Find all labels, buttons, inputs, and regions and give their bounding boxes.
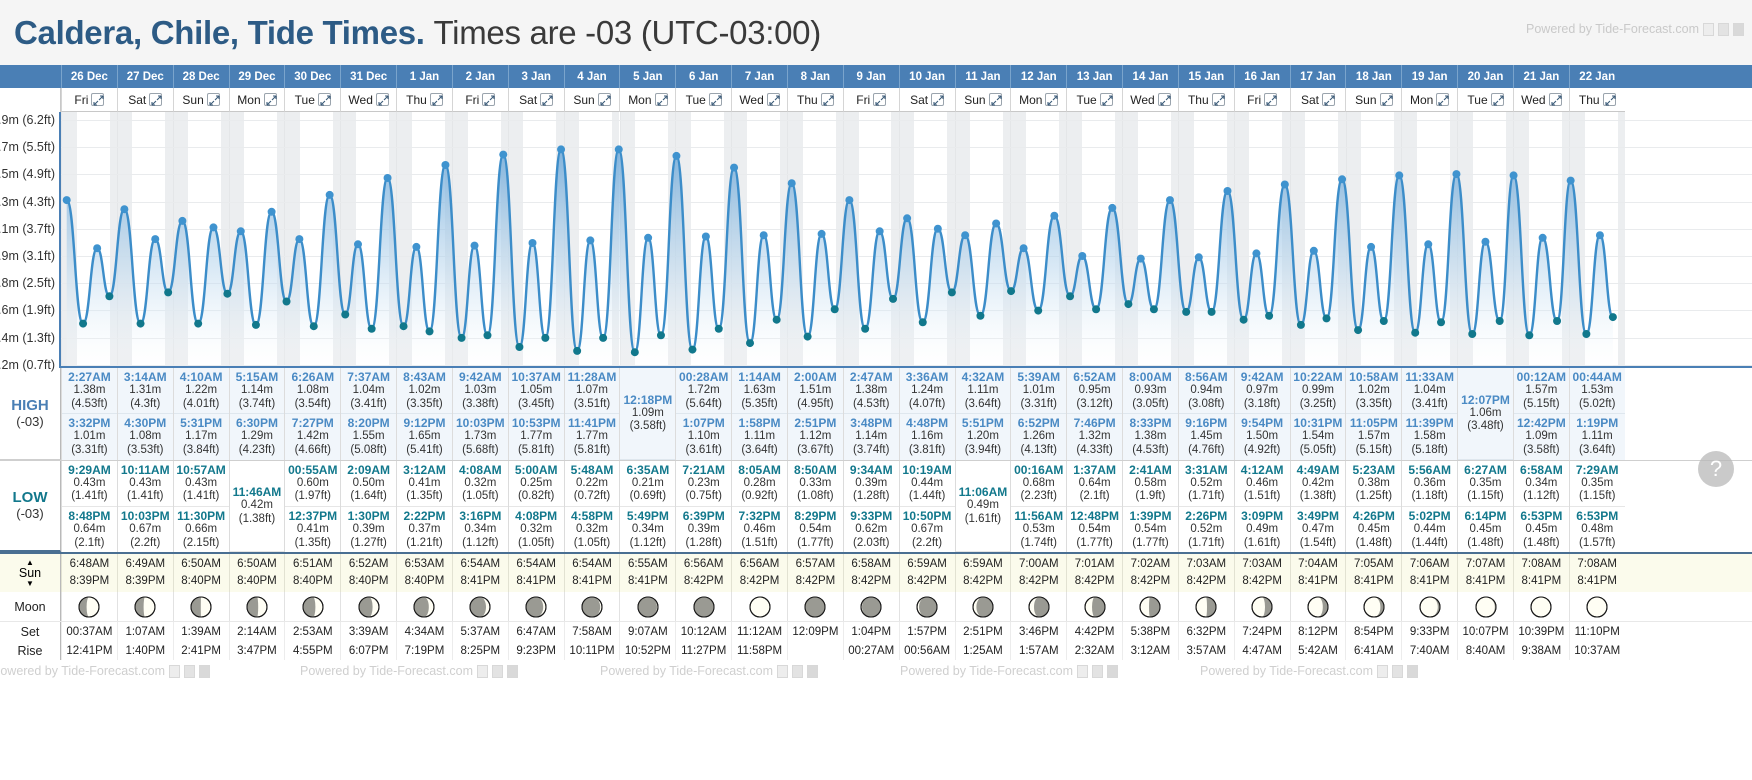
high-tide-height-m: 1.51m	[799, 384, 831, 398]
expand-icon[interactable]	[1436, 93, 1449, 106]
moon-phase-icon	[246, 596, 268, 618]
expand-icon[interactable]	[207, 93, 220, 106]
weekday-label: Tue	[686, 93, 706, 107]
watermark-box-2	[1718, 23, 1729, 36]
high-tide-time: 6:26AM	[291, 370, 334, 384]
expand-icon[interactable]	[767, 93, 780, 106]
moon-cell-11	[675, 592, 731, 621]
moonset-cell-9: 7:58AM	[564, 622, 620, 641]
low-tide-entry: 2:41AM0.58m(1.9ft)	[1123, 461, 1178, 507]
high-tide-time: 9:16PM	[1185, 416, 1227, 430]
low-tide-time: 8:05AM	[738, 463, 781, 477]
low-tide-entry: 5:48AM0.22m(0.72ft)	[565, 461, 620, 507]
high-tide-entry: 12:07PM1.06m(3.48ft)	[1458, 368, 1513, 460]
high-tide-entry: 1:07PM1.10m(3.61ft)	[676, 414, 731, 459]
low-tide-height-m: 0.46m	[744, 523, 776, 537]
date-header-7[interactable]: 2 Jan	[452, 65, 508, 88]
low-tide-height-ft: (1.12ft)	[462, 537, 498, 551]
date-header-23[interactable]: 18 Jan	[1345, 65, 1401, 88]
low-tide-height-m: 0.32m	[464, 477, 496, 491]
expand-icon[interactable]	[1603, 93, 1616, 106]
high-tide-time: 10:31PM	[1294, 416, 1343, 430]
moonrise-cell-17: 1:57AM	[1010, 641, 1066, 660]
sunrise-time: 7:00AM	[1019, 556, 1059, 573]
expand-icon[interactable]	[821, 93, 834, 106]
low-tide-time: 6:27AM	[1464, 463, 1507, 477]
expand-icon[interactable]	[1212, 93, 1225, 106]
low-tide-height-m: 0.45m	[1470, 523, 1502, 537]
low-tide-entry: 2:22PM0.37m(1.21ft)	[397, 507, 452, 552]
date-header-5[interactable]: 31 Dec	[340, 65, 396, 88]
moonrise-cell-21: 4:47AM	[1234, 641, 1290, 660]
sun-cell-16: 6:59AM8:42PM	[955, 554, 1011, 592]
low-tide-height-ft: (1.61ft)	[965, 513, 1001, 527]
y-tick-9: 0.2m (0.7ft)	[0, 358, 55, 372]
high-tide-cell-26: 00:12AM1.57m(5.15ft)12:42PM1.09m(3.58ft)	[1513, 368, 1569, 460]
low-tide-time: 11:30PM	[177, 509, 225, 523]
low-tide-height-ft: (1.77ft)	[1076, 537, 1112, 551]
low-tide-time: 7:21AM	[682, 463, 725, 477]
date-header-row: 26 Dec27 Dec28 Dec29 Dec30 Dec31 Dec1 Ja…	[0, 65, 1752, 88]
weekday-cell-8: Sat	[508, 88, 564, 112]
high-tide-entry: 7:27PM1.42m(4.66ft)	[285, 414, 340, 459]
low-tide-height-ft: (1.08ft)	[797, 490, 833, 504]
high-tide-entry: 9:16PM1.45m(4.76ft)	[1179, 414, 1234, 459]
low-tide-height-m: 0.43m	[185, 477, 217, 491]
sunrise-time: 6:50AM	[181, 556, 221, 573]
moon-phase-icon	[1419, 596, 1441, 618]
sun-row: ▲ Sun ▼ 6:48AM8:39PM6:49AM8:39PM6:50AM8:…	[0, 554, 1752, 592]
weekday-label: Wed	[739, 93, 763, 107]
date-header-27[interactable]: 22 Jan	[1569, 65, 1625, 88]
moonset-label: Set	[0, 622, 61, 641]
weekday-label: Fri	[856, 93, 870, 107]
low-tide-entry: 6:14PM0.45m(1.48ft)	[1458, 507, 1513, 552]
low-tide-cell-14: 9:34AM0.39m(1.28ft)9:33PM0.62m(2.03ft)	[843, 461, 899, 553]
moon-phase-icon	[302, 596, 324, 618]
high-tide-cell-3: 5:15AM1.14m(3.74ft)6:30PM1.29m(4.23ft)	[229, 368, 285, 460]
low-tide-height-ft: (1.48ft)	[1523, 537, 1559, 551]
low-tide-entry: 1:30PM0.39m(1.27ft)	[341, 507, 396, 552]
low-tide-height-m: 0.50m	[353, 477, 385, 491]
low-tide-height-ft: (1.61ft)	[1244, 537, 1280, 551]
moon-phase-icon	[1363, 596, 1385, 618]
expand-icon[interactable]	[1045, 93, 1058, 106]
sun-cell-5: 6:52AM8:40PM	[340, 554, 396, 592]
high-tide-height-m: 1.01m	[1023, 384, 1055, 398]
moonset-cell-6: 4:34AM	[396, 622, 452, 641]
weekday-cell-22: Sat	[1290, 88, 1346, 112]
low-tide-entry: 10:19AM0.44m(1.44ft)	[900, 461, 955, 507]
tide-sheet: 26 Dec27 Dec28 Dec29 Dec30 Dec31 Dec1 Ja…	[0, 65, 1752, 682]
high-tide-height-ft: (3.53ft)	[127, 444, 163, 458]
date-header-4[interactable]: 30 Dec	[284, 65, 340, 88]
low-tide-height-m: 0.53m	[1023, 523, 1055, 537]
date-header-15[interactable]: 10 Jan	[899, 65, 955, 88]
high-tide-time: 10:37AM	[511, 370, 560, 384]
moon-label-text: Moon	[14, 600, 45, 614]
sun-cell-3: 6:50AM8:40PM	[229, 554, 285, 592]
low-tide-time: 11:06AM	[959, 485, 1008, 499]
moon-cell-26	[1513, 592, 1569, 621]
high-tide-height-m: 1.14m	[855, 430, 887, 444]
low-tide-entry: 1:37AM0.64m(2.1ft)	[1067, 461, 1122, 507]
sunrise-time: 6:51AM	[293, 556, 333, 573]
high-tide-height-ft: (4.01ft)	[183, 398, 219, 412]
low-tide-time: 7:32PM	[739, 509, 781, 523]
moonrise-cell-22: 5:42AM	[1290, 641, 1346, 660]
high-tide-height-m: 1.38m	[1134, 430, 1166, 444]
date-header-20[interactable]: 15 Jan	[1178, 65, 1234, 88]
high-tide-entry: 00:12AM1.57m(5.15ft)	[1514, 368, 1569, 414]
sunset-time: 8:42PM	[1242, 573, 1282, 590]
expand-icon[interactable]	[989, 93, 1002, 106]
weekday-cell-5: Wed	[340, 88, 396, 112]
high-tide-height-ft: (3.12ft)	[1076, 398, 1112, 412]
high-tide-height-ft: (5.35ft)	[741, 398, 777, 412]
high-tide-time: 9:42AM	[459, 370, 502, 384]
high-tide-time: 7:27PM	[292, 416, 334, 430]
low-tide-time: 9:34AM	[850, 463, 893, 477]
moon-phase-row: Moon	[0, 592, 1752, 622]
weekday-label: Sat	[910, 93, 928, 107]
watermark-box-1	[1703, 23, 1714, 36]
moonset-cell-19: 5:38PM	[1122, 622, 1178, 641]
expand-icon[interactable]	[1491, 93, 1504, 106]
low-tide-time: 9:29AM	[68, 463, 111, 477]
high-tide-cell-9: 11:28AM1.07m(3.51ft)11:41PM1.77m(5.81ft)	[564, 368, 620, 460]
title-timezone: Times are -03 (UTC-03:00)	[434, 14, 821, 51]
high-tide-cell-8: 10:37AM1.05m(3.45ft)10:53PM1.77m(5.81ft)	[508, 368, 564, 460]
weekday-cell-10: Mon	[619, 88, 675, 112]
low-tide-time: 3:31AM	[1185, 463, 1228, 477]
moonrise-cell-6: 7:19PM	[396, 641, 452, 660]
high-tide-height-ft: (5.81ft)	[518, 444, 554, 458]
high-tide-time: 9:12PM	[403, 416, 445, 430]
low-tide-time: 6:53PM	[1576, 509, 1618, 523]
low-tide-height-ft: (1.35ft)	[406, 490, 442, 504]
expand-icon[interactable]	[709, 93, 722, 106]
low-tide-height-ft: (1.38ft)	[1300, 490, 1336, 504]
low-tide-time: 8:48PM	[68, 509, 110, 523]
high-tide-cell-21: 9:42AM0.97m(3.18ft)9:54PM1.50m(4.92ft)	[1234, 368, 1290, 460]
high-tide-cell-22: 10:22AM0.99m(3.25ft)10:31PM1.54m(5.05ft)	[1290, 368, 1346, 460]
high-tide-height-ft: (4.23ft)	[239, 444, 275, 458]
high-tide-height-ft: (3.64ft)	[1579, 444, 1615, 458]
sunset-time: 8:41PM	[1466, 573, 1506, 590]
date-header-12[interactable]: 7 Jan	[731, 65, 787, 88]
date-header-10[interactable]: 5 Jan	[619, 65, 675, 88]
low-tide-height-m: 0.62m	[855, 523, 887, 537]
expand-icon[interactable]	[1100, 93, 1113, 106]
low-tide-entry: 6:27AM0.35m(1.15ft)	[1458, 461, 1513, 507]
date-header-6[interactable]: 1 Jan	[396, 65, 452, 88]
moonrise-cell-11: 11:27PM	[675, 641, 731, 660]
high-tide-height-m: 1.50m	[1246, 430, 1278, 444]
low-tide-entry: 6:35AM0.21m(0.69ft)	[620, 461, 675, 507]
low-tide-time: 1:39PM	[1129, 509, 1171, 523]
expand-icon[interactable]	[149, 93, 162, 106]
weekday-cell-0: Fri	[61, 88, 117, 112]
moon-cell-12	[731, 592, 787, 621]
sunrise-time: 6:52AM	[349, 556, 389, 573]
high-tide-height-ft: (5.05ft)	[1300, 444, 1336, 458]
moon-label: Moon	[0, 592, 61, 621]
high-tide-entry: 00:28AM1.72m(5.64ft)	[676, 368, 731, 414]
low-tide-height-ft: (1.41ft)	[127, 490, 163, 504]
date-header-3[interactable]: 29 Dec	[229, 65, 285, 88]
low-tide-time: 3:09PM	[1241, 509, 1283, 523]
low-tide-entry: 12:37PM0.41m(1.35ft)	[285, 507, 340, 552]
high-tide-time: 3:32PM	[68, 416, 110, 430]
low-tide-height-ft: (1.12ft)	[1523, 490, 1559, 504]
low-tide-entry: 4:49AM0.42m(1.38ft)	[1291, 461, 1346, 507]
low-tide-time: 4:12AM	[1241, 463, 1284, 477]
sunset-time: 8:42PM	[740, 573, 780, 590]
low-tide-time: 4:08PM	[515, 509, 557, 523]
low-tide-height-m: 0.36m	[1414, 477, 1446, 491]
low-tide-cell-5: 2:09AM0.50m(1.64ft)1:30PM0.39m(1.27ft)	[340, 461, 396, 553]
low-tide-height-ft: (1.41ft)	[71, 490, 107, 504]
expand-icon[interactable]	[1322, 93, 1335, 106]
moon-phase-icon	[860, 596, 882, 618]
footer-watermark-box	[199, 665, 210, 678]
high-tide-height-m: 1.04m	[1414, 384, 1446, 398]
high-tide-time: 3:36AM	[906, 370, 949, 384]
low-tide-cell-23: 5:23AM0.38m(1.25ft)4:26PM0.45m(1.48ft)	[1345, 461, 1401, 553]
low-tide-time: 8:29PM	[794, 509, 836, 523]
low-tide-height-m: 0.35m	[1581, 477, 1613, 491]
high-tide-height-ft: (4.53ft)	[853, 398, 889, 412]
weekday-cell-14: Fri	[843, 88, 899, 112]
moon-cell-27	[1569, 592, 1625, 621]
date-header-21[interactable]: 16 Jan	[1234, 65, 1290, 88]
high-tide-height-m: 1.55m	[353, 430, 385, 444]
moon-cell-7	[452, 592, 508, 621]
low-tide-entry: 3:16PM0.34m(1.12ft)	[453, 507, 508, 552]
low-tide-height-ft: (1.28ft)	[853, 490, 889, 504]
low-tide-height-m: 0.32m	[520, 523, 552, 537]
date-header-13[interactable]: 8 Jan	[787, 65, 843, 88]
sunrise-time: 6:54AM	[572, 556, 612, 573]
sunrise-time: 6:59AM	[907, 556, 947, 573]
loading-spinner: ?	[1698, 451, 1734, 487]
high-tide-time: 7:37AM	[347, 370, 390, 384]
high-tide-entry: 10:37AM1.05m(3.45ft)	[509, 368, 564, 414]
expand-icon[interactable]	[91, 93, 104, 106]
high-tide-entry: 3:14AM1.31m(4.3ft)	[118, 368, 173, 414]
low-tide-height-ft: (1.77ft)	[797, 537, 833, 551]
high-tide-height-ft: (3.94ft)	[965, 444, 1001, 458]
sunrise-time: 6:49AM	[125, 556, 165, 573]
high-tide-time: 00:28AM	[679, 370, 728, 384]
date-header-11[interactable]: 6 Jan	[675, 65, 731, 88]
high-tide-cell-19: 8:00AM0.93m(3.05ft)8:33PM1.38m(4.53ft)	[1122, 368, 1178, 460]
high-tide-height-m: 1.02m	[1358, 384, 1390, 398]
moon-cell-25	[1457, 592, 1513, 621]
date-header-26[interactable]: 21 Jan	[1513, 65, 1569, 88]
footer-watermark-box	[1077, 665, 1088, 678]
expand-icon[interactable]	[318, 93, 331, 106]
weekday-cell-21: Fri	[1234, 88, 1290, 112]
high-tide-height-m: 1.04m	[353, 384, 385, 398]
high-tide-time: 5:51PM	[962, 416, 1004, 430]
low-tide-height-m: 0.48m	[1581, 523, 1613, 537]
high-tide-height-ft: (3.48ft)	[1467, 420, 1503, 434]
date-header-2[interactable]: 28 Dec	[173, 65, 229, 88]
high-tide-cell-18: 6:52AM0.95m(3.12ft)7:46PM1.32m(4.33ft)	[1066, 368, 1122, 460]
high-tide-entry: 7:37AM1.04m(3.41ft)	[341, 368, 396, 414]
low-tide-height-ft: (2.2ft)	[912, 537, 942, 551]
y-tick-3: 1.3m (4.3ft)	[0, 195, 55, 209]
date-header-14[interactable]: 9 Jan	[843, 65, 899, 88]
sun-cell-1: 6:49AM8:39PM	[117, 554, 173, 592]
high-tide-entry: 4:30PM1.08m(3.53ft)	[118, 414, 173, 459]
low-tide-entry: 6:53PM0.48m(1.57ft)	[1570, 507, 1625, 552]
footer-watermark-box	[477, 665, 488, 678]
y-tick-4: 1.1m (3.7ft)	[0, 222, 55, 236]
high-tide-height-m: 1.45m	[1190, 430, 1222, 444]
moon-phase-icon	[1586, 596, 1608, 618]
sunset-time: 8:40PM	[293, 573, 333, 590]
moon-cell-6	[396, 592, 452, 621]
moonset-cell-22: 8:12PM	[1290, 622, 1346, 641]
high-tide-height-m: 1.63m	[744, 384, 776, 398]
low-tide-height-m: 0.44m	[1414, 523, 1446, 537]
low-tide-height-m: 0.39m	[688, 523, 720, 537]
expand-icon[interactable]	[1380, 93, 1393, 106]
high-tide-height-m: 1.02m	[409, 384, 441, 398]
footer-watermark-box	[1407, 665, 1418, 678]
high-tide-height-ft: (5.18ft)	[1411, 444, 1447, 458]
date-header-25[interactable]: 20 Jan	[1457, 65, 1513, 88]
date-header-18[interactable]: 13 Jan	[1066, 65, 1122, 88]
high-tide-height-ft: (3.64ft)	[741, 444, 777, 458]
low-tide-height-m: 0.67m	[911, 523, 943, 537]
expand-icon[interactable]	[540, 93, 553, 106]
sunrise-time: 7:05AM	[1354, 556, 1394, 573]
high-tide-height-ft: (5.15ft)	[1356, 444, 1392, 458]
low-tide-height-ft: (1.05ft)	[574, 537, 610, 551]
low-tide-height-ft: (0.69ft)	[630, 490, 666, 504]
low-tide-cell-24: 5:56AM0.36m(1.18ft)5:02PM0.44m(1.44ft)	[1401, 461, 1457, 553]
low-tide-cell-2: 10:57AM0.43m(1.41ft)11:30PM0.66m(2.15ft)	[173, 461, 229, 553]
footer-watermarks: Powered by Tide-Forecast.comPowered by T…	[0, 660, 1752, 682]
low-tide-height-m: 0.45m	[1525, 523, 1557, 537]
chart-plot-area[interactable]	[61, 112, 1752, 368]
low-tide-entry: 9:29AM0.43m(1.41ft)	[62, 461, 117, 507]
date-header-16[interactable]: 11 Jan	[955, 65, 1011, 88]
low-tide-time: 3:12AM	[403, 463, 446, 477]
low-tide-entry: 4:26PM0.45m(1.48ft)	[1346, 507, 1401, 552]
date-header-17[interactable]: 12 Jan	[1010, 65, 1066, 88]
sunset-time: 8:40PM	[237, 573, 277, 590]
high-tide-height-m: 1.08m	[129, 430, 161, 444]
expand-icon[interactable]	[655, 93, 668, 106]
footer-watermark-3: Powered by Tide-Forecast.com	[900, 664, 1118, 678]
date-header-9[interactable]: 4 Jan	[564, 65, 620, 88]
high-tide-height-ft: (4.33ft)	[1076, 444, 1112, 458]
date-header-0[interactable]: 26 Dec	[61, 65, 117, 88]
date-header-22[interactable]: 17 Jan	[1290, 65, 1346, 88]
high-tide-time: 7:46PM	[1074, 416, 1116, 430]
low-tide-height-m: 0.42m	[241, 499, 273, 513]
low-tide-height-ft: (2.03ft)	[853, 537, 889, 551]
high-tide-cell-12: 1:14AM1.63m(5.35ft)1:58PM1.11m(3.64ft)	[731, 368, 787, 460]
weekday-label: Tue	[1467, 93, 1487, 107]
expand-icon[interactable]	[1549, 93, 1562, 106]
footer-watermark-box	[792, 665, 803, 678]
moonrise-cell-3: 3:47PM	[229, 641, 285, 660]
low-tide-entry: 3:49PM0.47m(1.54ft)	[1291, 507, 1346, 552]
moonrise-row: Rise 12:41PM1:40PM2:41PM3:47PM4:55PM6:07…	[0, 641, 1752, 660]
expand-icon[interactable]	[873, 93, 886, 106]
low-tide-cell-18: 1:37AM0.64m(2.1ft)12:48PM0.54m(1.77ft)	[1066, 461, 1122, 553]
expand-icon[interactable]	[264, 93, 277, 106]
low-tide-height-ft: (1.51ft)	[1244, 490, 1280, 504]
sunrise-time: 6:54AM	[461, 556, 501, 573]
sun-cell-26: 7:08AM8:41PM	[1513, 554, 1569, 592]
moonrise-cell-25: 8:40AM	[1457, 641, 1513, 660]
footer-watermark-text: Powered by Tide-Forecast.com	[900, 664, 1073, 678]
sunset-time: 8:41PM	[1298, 573, 1338, 590]
low-tide-cell-8: 5:00AM0.25m(0.82ft)4:08PM0.32m(1.05ft)	[508, 461, 564, 553]
high-tide-height-m: 1.06m	[1470, 407, 1502, 421]
expand-icon[interactable]	[1264, 93, 1277, 106]
moon-phase-icon	[693, 596, 715, 618]
low-tide-entry: 11:06AM0.49m(1.61ft)	[956, 461, 1011, 553]
moonset-cell-7: 5:37AM	[452, 622, 508, 641]
low-tide-height-m: 0.23m	[688, 477, 720, 491]
expand-icon[interactable]	[598, 93, 611, 106]
sunrise-time: 6:54AM	[516, 556, 556, 573]
high-tide-entry: 3:32PM1.01m(3.31ft)	[62, 414, 117, 459]
low-tide-height-ft: (1.25ft)	[1356, 490, 1392, 504]
high-tide-entry: 00:44AM1.53m(5.02ft)	[1570, 368, 1625, 414]
tide-curve	[61, 112, 1752, 368]
moon-phase-icon	[358, 596, 380, 618]
date-header-8[interactable]: 3 Jan	[508, 65, 564, 88]
date-header-19[interactable]: 14 Jan	[1122, 65, 1178, 88]
sunset-time: 8:41PM	[1522, 573, 1562, 590]
expand-icon[interactable]	[376, 93, 389, 106]
high-tide-time: 1:14AM	[738, 370, 781, 384]
weekday-label: Thu	[406, 93, 427, 107]
expand-icon[interactable]	[482, 93, 495, 106]
low-tide-entry: 8:05AM0.28m(0.92ft)	[732, 461, 787, 507]
date-header-1[interactable]: 27 Dec	[117, 65, 173, 88]
moonset-cell-11: 10:12AM	[675, 622, 731, 641]
high-tide-height-ft: (4.76ft)	[1188, 444, 1224, 458]
high-tide-height-ft: (3.31ft)	[1021, 398, 1057, 412]
low-tide-cell-17: 00:16AM0.68m(2.23ft)11:56AM0.53m(1.74ft)	[1010, 461, 1066, 553]
low-tide-entry: 00:55AM0.60m(1.97ft)	[285, 461, 340, 507]
sun-cell-10: 6:55AM8:41PM	[619, 554, 675, 592]
low-tide-height-m: 0.34m	[1525, 477, 1557, 491]
high-tide-time: 3:14AM	[124, 370, 167, 384]
moonset-cell-23: 8:54PM	[1345, 622, 1401, 641]
date-header-24[interactable]: 19 Jan	[1401, 65, 1457, 88]
expand-icon[interactable]	[430, 93, 443, 106]
footer-watermark-2: Powered by Tide-Forecast.com	[600, 664, 818, 678]
high-tide-height-ft: (5.64ft)	[685, 398, 721, 412]
expand-icon[interactable]	[931, 93, 944, 106]
expand-icon[interactable]	[1158, 93, 1171, 106]
high-tide-height-ft: (5.81ft)	[574, 444, 610, 458]
low-tide-entry: 5:00AM0.25m(0.82ft)	[509, 461, 564, 507]
sunset-time: 8:41PM	[1577, 573, 1617, 590]
high-tide-height-ft: (3.38ft)	[462, 398, 498, 412]
